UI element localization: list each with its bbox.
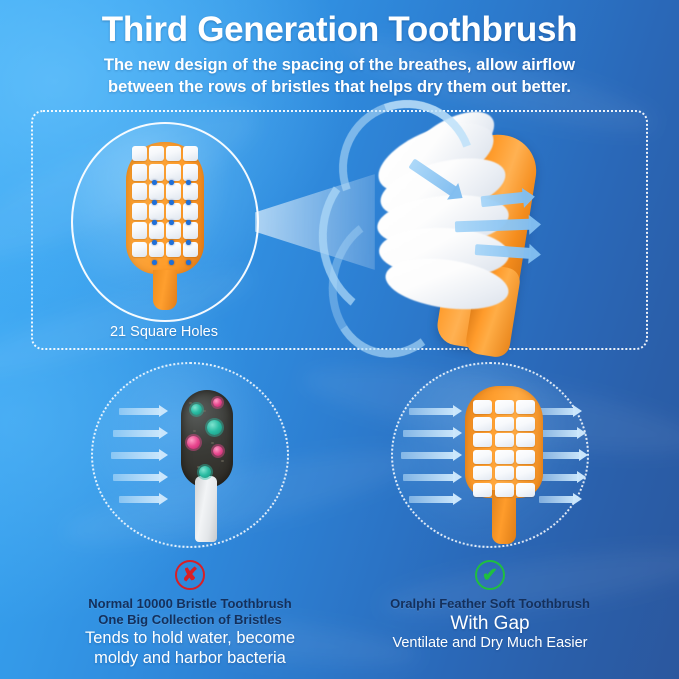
hole-node-dot — [152, 260, 157, 265]
bristle-tuft — [516, 466, 535, 480]
bristle-tuft — [495, 483, 514, 497]
bristle-tuft — [166, 183, 181, 200]
page-subtitle: The new design of the spacing of the bre… — [60, 55, 620, 99]
bristle-tuft — [473, 450, 492, 464]
hole-node-dot — [169, 180, 174, 185]
bristle-tuft — [183, 183, 198, 200]
hole-node-dot — [169, 200, 174, 205]
caption-line-3: Ventilate and Dry Much Easier — [340, 635, 640, 653]
caption-line-2: One Big Collection of Bristles — [40, 612, 340, 628]
bristle-tuft — [183, 203, 198, 220]
hole-node-dot — [186, 220, 191, 225]
bristle-tuft — [495, 400, 514, 414]
bacteria-icon — [213, 446, 223, 456]
bristle-tuft — [149, 146, 164, 161]
hole-node-dot — [169, 220, 174, 225]
bristle-tuft — [516, 433, 535, 447]
airflow-arrow-in — [403, 474, 455, 481]
bristle-tuft — [132, 203, 147, 220]
bristle-tuft — [473, 433, 492, 447]
status-badge-positive: ✔ — [475, 560, 505, 590]
caption-line-2: With Gap — [340, 612, 640, 635]
schematic-brush-neck — [153, 270, 177, 310]
airflow-arrow-in — [409, 408, 455, 415]
airflow-arrow-blocked — [119, 496, 161, 503]
bristle-tuft — [132, 222, 147, 239]
bristle-tuft — [516, 450, 535, 464]
caption-line-4: moldy and harbor bacteria — [40, 648, 340, 668]
hole-node-dot — [152, 240, 157, 245]
bristle-tuft — [132, 164, 147, 181]
airflow-arrow-out — [539, 496, 575, 503]
magnifier-caption: 21 Square Holes — [64, 324, 264, 340]
bristle-tuft — [495, 417, 514, 431]
airflow-arrow-blocked — [113, 430, 161, 437]
infographic-canvas: Third Generation Toothbrush The new desi… — [0, 0, 679, 679]
hole-node-dot — [152, 200, 157, 205]
normal-brush-neck — [195, 476, 217, 542]
magnifier-circle — [71, 122, 259, 322]
status-badge-negative: ✘ — [175, 560, 205, 590]
bristle-tuft — [132, 146, 147, 161]
hole-node-dot — [152, 180, 157, 185]
bristle-tuft — [516, 483, 535, 497]
bristle-tuft — [149, 222, 164, 239]
bristle-tuft — [516, 417, 535, 431]
bristle-tuft — [183, 146, 198, 161]
normal-toothbrush — [175, 390, 239, 542]
airflow-arrow-out — [539, 474, 579, 481]
oralphi-brush-neck — [492, 490, 516, 544]
bristle-tuft — [473, 417, 492, 431]
page-title: Third Generation Toothbrush — [0, 0, 679, 49]
airflow-arrow-blocked — [111, 452, 161, 459]
hole-node-dot — [186, 180, 191, 185]
airflow-arrow-out — [539, 408, 575, 415]
bristle-tuft — [132, 183, 147, 200]
bristle-tuft — [166, 164, 181, 181]
airflow-arrow-out — [539, 430, 579, 437]
hole-node-dot — [186, 240, 191, 245]
comparison-circle-normal — [91, 362, 289, 548]
bristle-tuft — [149, 164, 164, 181]
airflow-arrow-in — [409, 496, 455, 503]
bacteria-icon — [187, 436, 200, 449]
subtitle-line-2: between the rows of bristles that helps … — [60, 77, 620, 99]
bristle-tuft — [166, 203, 181, 220]
airflow-arrow-blocked — [119, 408, 161, 415]
bacteria-icon — [199, 466, 211, 478]
hole-node-dot — [169, 240, 174, 245]
hero-toothbrush — [363, 116, 633, 352]
bristle-tuft — [495, 433, 514, 447]
gapped-tuft-grid — [473, 400, 535, 497]
caption-line-3: Tends to hold water, become — [40, 628, 340, 648]
bristle-tuft — [473, 483, 492, 497]
hole-node-dot — [169, 260, 174, 265]
bacteria-icon — [191, 404, 202, 415]
caption-line-1: Oralphi Feather Soft Toothbrush — [340, 596, 640, 612]
header: Third Generation Toothbrush The new desi… — [0, 0, 679, 99]
airflow-arrow-in — [401, 452, 455, 459]
bristle-tuft — [495, 450, 514, 464]
bristle-tuft — [166, 222, 181, 239]
oralphi-toothbrush — [465, 386, 543, 544]
airflow-arrow-blocked — [113, 474, 161, 481]
bacteria-icon — [207, 420, 222, 435]
subtitle-line-1: The new design of the spacing of the bre… — [60, 55, 620, 77]
bristle-tuft — [149, 203, 164, 220]
comparison-column-oralphi: ✔ Oralphi Feather Soft Toothbrush With G… — [340, 362, 640, 653]
bristle-tuft — [183, 164, 198, 181]
comparison-circle-oralphi — [391, 362, 589, 548]
bristle-tuft — [516, 400, 535, 414]
comparison-column-normal: ✘ Normal 10000 Bristle Toothbrush One Bi… — [40, 362, 340, 668]
caption-normal: Normal 10000 Bristle Toothbrush One Big … — [40, 596, 340, 668]
caption-oralphi: Oralphi Feather Soft Toothbrush With Gap… — [340, 596, 640, 653]
bristle-tuft — [166, 146, 181, 161]
bristle-tuft — [149, 183, 164, 200]
airflow-arrow-in — [403, 430, 455, 437]
airflow-arrow-out — [539, 452, 581, 459]
hole-node-dot — [152, 220, 157, 225]
hole-node-dot — [186, 260, 191, 265]
bristle-tuft — [473, 466, 492, 480]
bristle-tuft — [495, 466, 514, 480]
main-feature-panel: 21 Square Holes — [31, 110, 648, 350]
bacteria-icon — [213, 398, 222, 407]
bristle-tuft — [183, 222, 198, 239]
bristle-tuft — [132, 242, 147, 257]
hole-node-dot — [186, 200, 191, 205]
bristle-tuft — [473, 400, 492, 414]
caption-line-1: Normal 10000 Bristle Toothbrush — [40, 596, 340, 612]
